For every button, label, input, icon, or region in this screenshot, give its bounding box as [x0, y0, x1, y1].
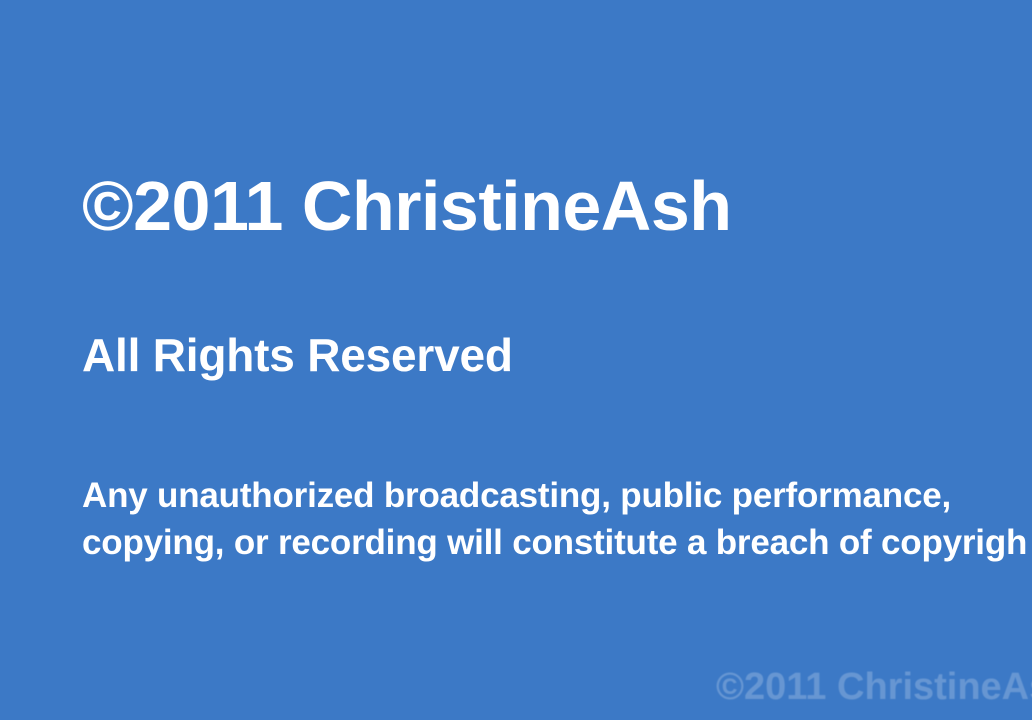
usage-notice-line-2: copying, or recording will constitute a … [82, 519, 1032, 566]
usage-notice: Any unauthorized broadcasting, public pe… [82, 472, 1032, 566]
copyright-slide: ©2011 ChristineAsh All Rights Reserved A… [0, 0, 1032, 720]
all-rights-reserved-text: All Rights Reserved [82, 328, 513, 382]
copyright-title: ©2011 ChristineAsh [82, 167, 732, 245]
usage-notice-line-1: Any unauthorized broadcasting, public pe… [82, 472, 1032, 519]
corner-watermark: ©2011 ChristineAs [716, 664, 1032, 710]
